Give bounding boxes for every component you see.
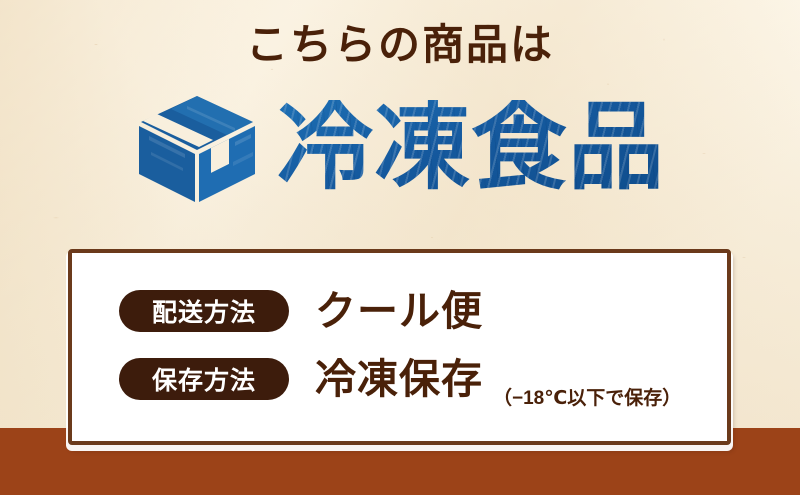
- label-pill-storage-method: 保存方法: [119, 358, 289, 400]
- value-shipping-method: クール便: [315, 291, 483, 332]
- title-text: 冷凍食品: [277, 100, 665, 196]
- info-row-storage-method: 保存方法 冷凍保存 （−18℃以下で保存）: [72, 345, 727, 413]
- info-card: 配送方法 クール便 保存方法 冷凍保存 （−18℃以下で保存）: [68, 249, 731, 445]
- title-row: 冷凍食品: [0, 92, 800, 204]
- info-row-shipping-method: 配送方法 クール便: [72, 277, 727, 345]
- note-storage-temperature: （−18℃以下で保存）: [493, 383, 681, 413]
- package-box-icon: [135, 92, 259, 204]
- lead-text: こちらの商品は: [0, 24, 800, 66]
- label-pill-shipping-method: 配送方法: [119, 290, 289, 332]
- frozen-food-banner: こちらの商品は 冷凍食品 配送方法 クール便: [0, 0, 800, 495]
- value-storage-method: 冷凍保存: [315, 359, 483, 400]
